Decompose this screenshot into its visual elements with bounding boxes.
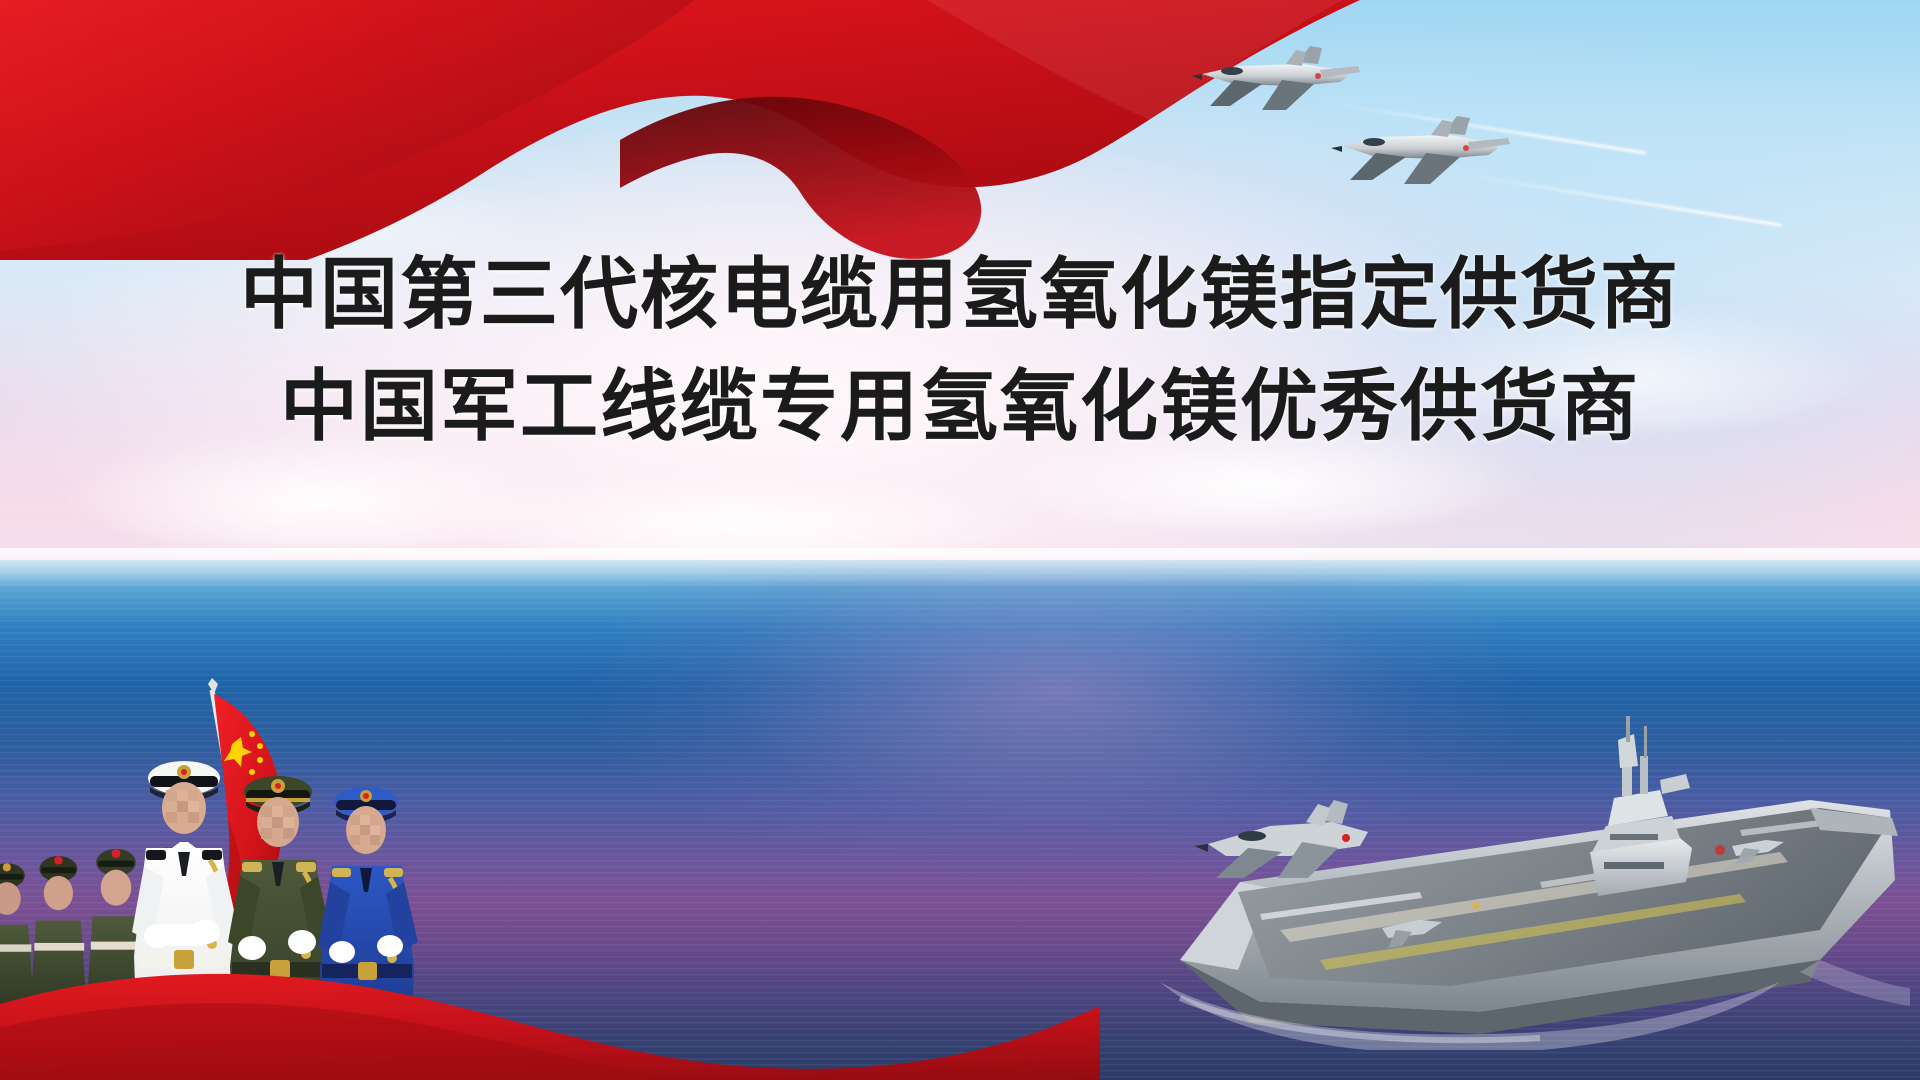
red-flag-ribbon-icon [0, 0, 1360, 260]
title-line-1: 中国第三代核电缆用氢氧化镁指定供货商 [0, 238, 1920, 350]
promotional-banner: 中国第三代核电缆用氢氧化镁指定供货商 中国军工线缆专用氢氧化镁优秀供货商 [0, 0, 1920, 1080]
horizon-haze [0, 548, 1920, 588]
title-line-2: 中国军工线缆专用氢氧化镁优秀供货商 [0, 350, 1920, 462]
fighter-jet-icon [1330, 110, 1510, 206]
red-flag-ribbon-bottom-icon [0, 920, 1100, 1080]
title-block: 中国第三代核电缆用氢氧化镁指定供货商 中国军工线缆专用氢氧化镁优秀供货商 [0, 238, 1920, 462]
cloud [420, 470, 1060, 560]
aircraft-carrier-icon [1120, 630, 1910, 1050]
